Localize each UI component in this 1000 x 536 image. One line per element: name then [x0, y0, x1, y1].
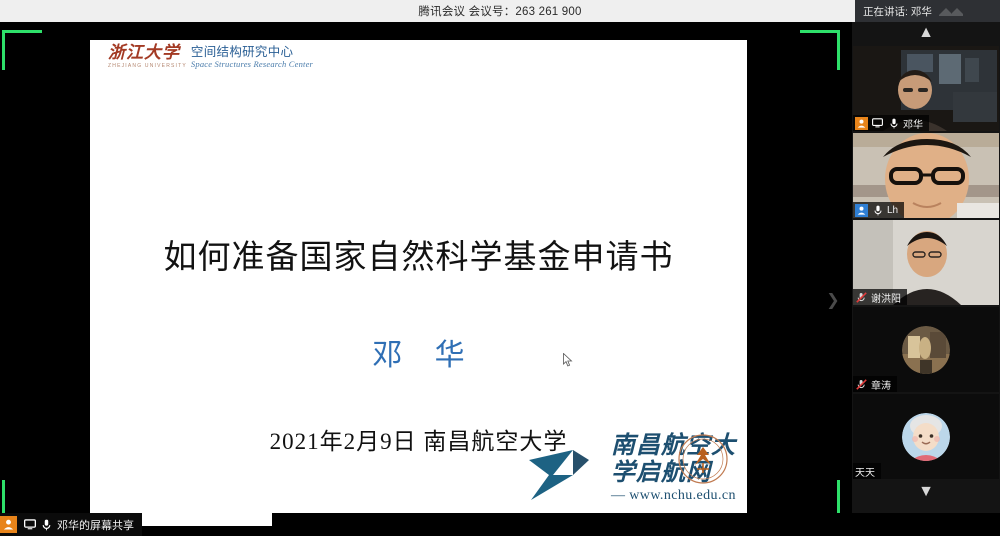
participant-tile[interactable]: Lh [853, 133, 999, 218]
participant-label: 邓华 [853, 115, 929, 131]
participant-name: 章涛 [871, 377, 891, 392]
nchu-arrow-logo-icon [527, 448, 607, 509]
microphone-icon [871, 204, 884, 217]
mouse-pointer-icon [563, 353, 573, 367]
participant-rail: ▲ [852, 22, 1000, 536]
person-icon [855, 204, 868, 217]
zhejiang-university-seal-icon [677, 433, 729, 485]
screen-share-icon [871, 117, 884, 130]
participant-name: 邓华 [903, 116, 923, 131]
participant-label: 章涛 [853, 376, 897, 392]
participant-tile[interactable]: 章涛 [853, 307, 999, 392]
research-center-cn: 空间结构研究中心 [191, 45, 313, 59]
zhejiang-university-logo-icon: 浙江大学 ZHEJIANG UNIVERSITY [108, 44, 187, 70]
slide-title: 如何准备国家自然科学基金申请书 [90, 230, 747, 278]
microphone-icon [40, 518, 53, 531]
sound-wave-icon [938, 4, 964, 18]
active-speaker-label: 正在讲话: 邓华 [863, 4, 932, 19]
microphone-icon [887, 117, 900, 130]
avatar [902, 413, 950, 461]
person-icon [855, 117, 868, 130]
zju-name-en: ZHEJIANG UNIVERSITY [108, 62, 187, 70]
participant-name: 谢洪阳 [871, 290, 901, 305]
presentation-slide: 浙江大学 ZHEJIANG UNIVERSITY 空间结构研究中心 Space … [90, 40, 747, 523]
participant-label: 谢洪阳 [853, 289, 907, 305]
microphone-muted-icon [855, 378, 868, 391]
avatar [902, 326, 950, 374]
chevron-right-icon[interactable]: ❯ [826, 290, 840, 312]
meeting-title: 腾讯会议 会议号：263 261 900 [418, 3, 581, 19]
screen-share-status[interactable]: 邓华的屏幕共享 [0, 513, 142, 536]
share-frame-corner-top-left [2, 30, 42, 70]
person-icon [0, 516, 17, 533]
participant-label: Lh [853, 202, 904, 218]
meeting-window: 腾讯会议 会议号：263 261 900 正在讲话: 邓华 ❯ 浙江大学 ZHE… [0, 0, 1000, 536]
participant-name: Lh [887, 205, 898, 216]
taskbar: 邓华的屏幕共享 [0, 513, 1000, 536]
share-frame-corner-top-right [800, 30, 840, 70]
screen-share-icon [23, 518, 36, 531]
research-center-en: Space Structures Research Center [191, 59, 313, 70]
active-speaker-indicator: 正在讲话: 邓华 [855, 0, 1000, 22]
participant-label: 天天 [853, 463, 881, 479]
chevron-down-icon[interactable]: ▼ [852, 481, 1000, 503]
topbar: 腾讯会议 会议号：263 261 900 [0, 0, 1000, 22]
microphone-muted-icon [855, 291, 868, 304]
screen-share-label: 邓华的屏幕共享 [57, 517, 134, 533]
slide-author: 邓 华 [90, 330, 747, 374]
participant-tile[interactable]: 邓华 [853, 46, 999, 131]
chevron-up-icon[interactable]: ▲ [852, 22, 1000, 44]
taskbar-window-strip[interactable] [132, 513, 272, 526]
research-center-text: 空间结构研究中心 Space Structures Research Cente… [191, 44, 313, 70]
zju-name-cn: 浙江大学 [108, 44, 187, 62]
participant-tile[interactable]: 天天 [853, 394, 999, 479]
slide-header-logo: 浙江大学 ZHEJIANG UNIVERSITY 空间结构研究中心 Space … [108, 44, 313, 70]
shared-screen-stage[interactable]: ❯ 浙江大学 ZHEJIANG UNIVERSITY 空间结构研究中心 Spac… [0, 22, 852, 536]
participant-name: 天天 [855, 464, 875, 479]
participant-tile[interactable]: 谢洪阳 [853, 220, 999, 305]
